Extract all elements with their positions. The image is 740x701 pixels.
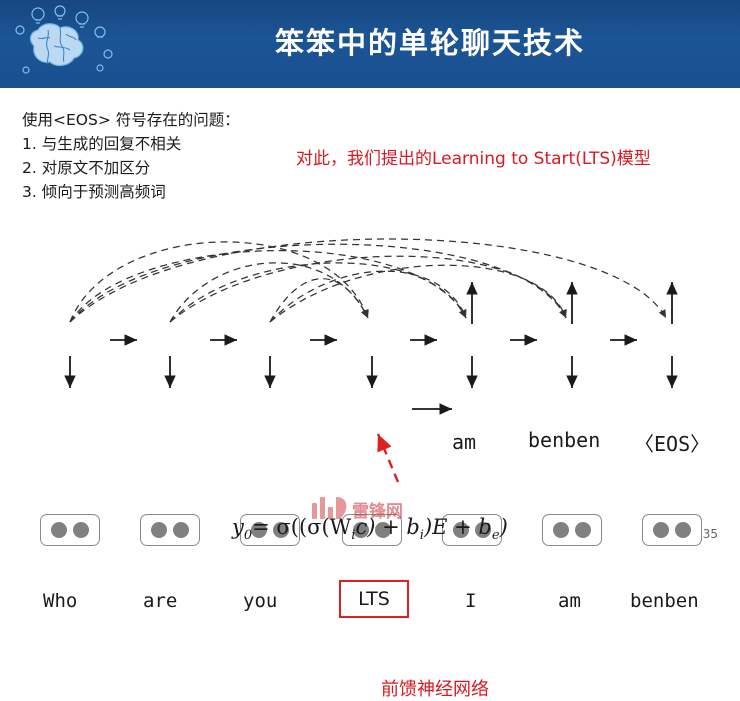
input-word-benben: benben: [630, 590, 699, 612]
slide: 笨笨中的单轮聊天技术 使用<EOS> 符号存在的问题： 1. 与生成的回复不相关…: [0, 0, 740, 553]
problem-item-2: 2. 对原文不加区分: [22, 156, 240, 180]
input-word-who: Who: [43, 590, 77, 612]
slide-header: 笨笨中的单轮聊天技术: [0, 0, 740, 88]
problem-item-1: 1. 与生成的回复不相关: [22, 132, 240, 156]
page-title: 笨笨中的单轮聊天技术: [150, 20, 710, 62]
input-word-am: am: [558, 590, 581, 612]
lts-box: LTS: [339, 580, 409, 618]
input-word-i: I: [465, 590, 476, 612]
output-word-eos: 〈EOS〉: [634, 428, 710, 457]
watermark: 雷锋网: [310, 491, 440, 525]
ffn-label: 前馈神经网络: [381, 675, 489, 701]
formula-lhs: y: [232, 515, 244, 539]
cell-dot: [675, 522, 691, 538]
rnn-cell-6: [542, 514, 602, 546]
proposal-note: 对此，我们提出的Learning to Start(LTS)模型: [296, 144, 651, 169]
cell-dot: [575, 522, 591, 538]
output-word-benben: benben: [528, 428, 600, 452]
rnn-cell-2: [140, 514, 200, 546]
cell-dot: [73, 522, 89, 538]
output-word-am: am: [452, 430, 476, 454]
formula-end: ): [500, 515, 508, 539]
problem-list-heading: 使用<EOS> 符号存在的问题：: [22, 108, 240, 132]
lts-architecture-diagram: am benben 〈EOS〉 Who are you I am benben …: [0, 190, 740, 490]
page-number: 35: [703, 527, 718, 541]
brain-lightbulb-icon: [4, 2, 134, 86]
input-word-you: you: [243, 590, 277, 612]
rnn-cell-1: [40, 514, 100, 546]
formula-lhs-sub: 0: [244, 528, 252, 543]
cell-dot: [173, 522, 189, 538]
cell-dot: [653, 522, 669, 538]
cell-dot: [51, 522, 67, 538]
diagram-connections: [0, 190, 740, 490]
cell-dot: [553, 522, 569, 538]
rnn-cell-7: [642, 514, 702, 546]
watermark-text: 雷锋网: [352, 497, 403, 522]
cell-dot: [151, 522, 167, 538]
input-word-are: are: [143, 590, 177, 612]
formula-sub-e: e: [492, 528, 500, 543]
